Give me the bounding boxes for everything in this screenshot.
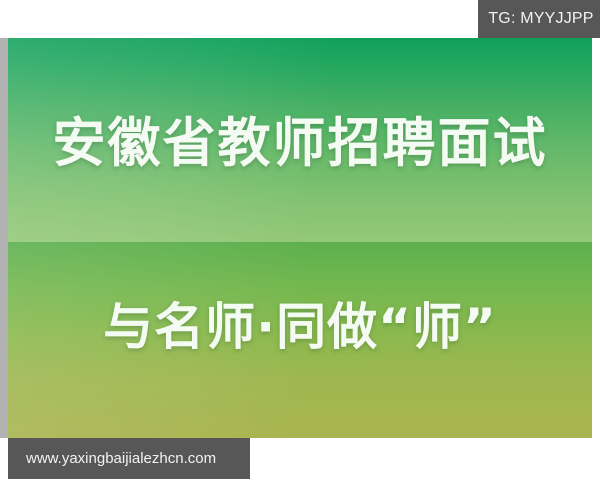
poster-slogan-band: 与名师·同做“师” — [8, 242, 592, 438]
poster-left-edge-strip — [0, 38, 8, 438]
poster-slogan-text: 与名师·同做“师” — [103, 287, 497, 359]
tg-channel-badge: TG: MYYJJPP — [478, 0, 600, 38]
tg-channel-badge-label: TG: MYYJJPP — [488, 10, 593, 28]
poster-headline-text: 安徽省教师招聘面试 — [53, 101, 548, 177]
poster-banner: 安徽省教师招聘面试 与名师·同做“师” — [0, 38, 592, 438]
watermark-url-bar: www.yaxingbaijialezhcn.com — [8, 438, 250, 479]
watermark-url-label: www.yaxingbaijialezhcn.com — [26, 450, 216, 467]
poster-headline-band: 安徽省教师招聘面试 — [8, 38, 592, 242]
